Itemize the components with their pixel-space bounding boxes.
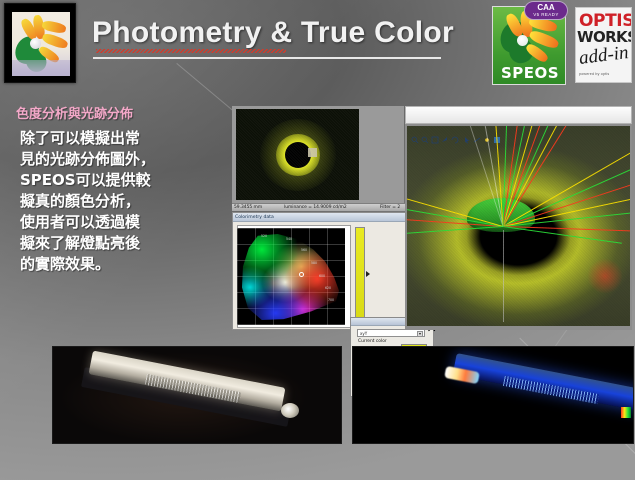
slide-header: Photometry & True Color SPEOS CAA V5 REA… xyxy=(0,0,635,88)
caa-badge-sub-text: V5 READY xyxy=(525,12,567,17)
optis-tagline: powered by optis xyxy=(579,72,609,76)
slide-canvas: Photometry & True Color SPEOS CAA V5 REA… xyxy=(0,0,635,480)
cie-current-color-marker xyxy=(299,272,304,277)
light-source-end xyxy=(281,403,299,418)
status-position: 59.3455 mm xyxy=(234,204,262,212)
status-filter: Filter = 2 xyxy=(380,204,400,212)
page-title: Photometry & True Color xyxy=(92,14,472,52)
color-space-select[interactable]: xyY ▼ xyxy=(357,329,425,337)
cie-1931-chromaticity-diagram[interactable]: 520 540 560 580 600 620 700 xyxy=(237,228,345,325)
luminance-false-color-map xyxy=(236,109,359,200)
software-screenshot-composite: 59.3455 mm luminance = 14.9009 cd/m2 Fil… xyxy=(232,106,632,330)
colorimetry-title-bar[interactable]: Colorimetry data × xyxy=(233,213,421,222)
cie-tick-label: 540 xyxy=(286,237,292,241)
cie-tick-label: 700 xyxy=(328,298,334,302)
chevron-down-icon[interactable]: ▼ xyxy=(417,331,423,337)
speos-brand-icon-box xyxy=(4,3,76,83)
section-subheading: 色度分析與光跡分佈 xyxy=(16,103,216,122)
spellcheck-squiggle xyxy=(96,49,286,53)
luminance-panel: 59.3455 mm luminance = 14.9009 cd/m2 Fil… xyxy=(232,106,404,203)
color-space-value: xyY xyxy=(360,330,367,338)
3d-raytrace-view[interactable] xyxy=(407,126,630,326)
false-color-luminance-render xyxy=(352,346,634,444)
cie-tick-label: 620 xyxy=(325,286,331,290)
color-scale-bar[interactable] xyxy=(355,227,365,325)
speos-flower-icon xyxy=(12,12,70,76)
caa-v5-badge: CAA V5 READY xyxy=(524,1,568,20)
current-color-group-label: Current color xyxy=(358,339,387,344)
raytrace-toolbar[interactable] xyxy=(405,106,632,124)
luminance-color-chip xyxy=(621,407,631,418)
cie-tick-label: 560 xyxy=(301,248,307,252)
raytrace-window[interactable] xyxy=(405,106,632,330)
color-scale-cursor-icon[interactable] xyxy=(366,271,370,277)
status-luminance-value: luminance = 14.9009 cd/m2 xyxy=(284,204,347,212)
render-noise-overlay xyxy=(407,126,630,326)
optis-works-addin-logo: OPTIS WORKS add-in powered by optis xyxy=(575,7,632,83)
page-title-text: Photometry & True Color xyxy=(92,14,472,52)
title-underline xyxy=(93,57,441,59)
colorimetry-title-text: Colorimetry data xyxy=(235,213,274,222)
speos-wordmark: SPEOS xyxy=(493,64,566,82)
cie-tick-label: 600 xyxy=(319,274,325,278)
cie-tick-label: 520 xyxy=(261,234,267,238)
body-paragraph: 除了可以模擬出常 見的光跡分佈圖外， SPEOS可以提供較 擬真的顏色分析， 使… xyxy=(20,128,220,275)
true-color-photometric-render xyxy=(52,346,342,444)
caa-badge-main-text: CAA xyxy=(525,3,567,12)
colorimetry-window[interactable]: Colorimetry data × 520 540 560 580 600 6… xyxy=(232,212,422,330)
luminance-status-bar: 59.3455 mm luminance = 14.9009 cd/m2 Fil… xyxy=(232,203,418,211)
cie-tick-label: 580 xyxy=(311,261,317,265)
addin-wordmark: add-in xyxy=(578,42,630,70)
